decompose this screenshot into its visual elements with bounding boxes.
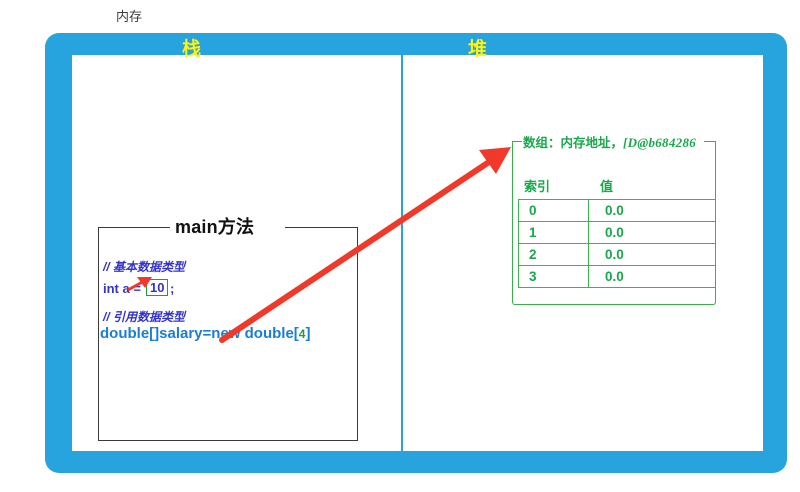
array-elements-table: 0 0.0 1 0.0 2 0.0 3 0.0 bbox=[518, 199, 716, 288]
array-cell-index: 2 bbox=[519, 244, 589, 266]
int-declaration: int a = bbox=[103, 281, 141, 296]
table-row: 1 0.0 bbox=[519, 222, 716, 244]
array-object-title: 数组：内存地址，[D@b684286 bbox=[523, 132, 696, 151]
array-title-prefix: 数组：内存地址， bbox=[523, 136, 623, 150]
zone-label-stack: 栈 bbox=[182, 34, 201, 61]
int-declaration-semicolon: ; bbox=[170, 281, 174, 296]
diagram-caption: 内存 bbox=[116, 6, 142, 25]
array-cell-value: 0.0 bbox=[589, 200, 716, 222]
array-cell-value: 0.0 bbox=[589, 266, 716, 288]
array-cell-index: 1 bbox=[519, 222, 589, 244]
array-cell-value: 0.0 bbox=[589, 222, 716, 244]
comment-primitive-type: // 基本数据类型 bbox=[103, 258, 185, 275]
array-cell-value: 0.0 bbox=[589, 244, 716, 266]
array-object-top-right-rule bbox=[704, 141, 716, 142]
array-cell-index: 3 bbox=[519, 266, 589, 288]
stack-heap-divider bbox=[401, 55, 403, 453]
array-declaration-prefix: double[]salary=new double[ bbox=[100, 325, 299, 342]
array-elements-body: 0 0.0 1 0.0 2 0.0 3 0.0 bbox=[519, 200, 716, 288]
main-method-box-top-right-rule bbox=[285, 227, 358, 228]
array-memory-address: [D@b684286 bbox=[623, 135, 696, 150]
array-cell-index: 0 bbox=[519, 200, 589, 222]
array-declaration-suffix: ] bbox=[305, 325, 310, 342]
array-header-value: 值 bbox=[600, 176, 613, 195]
array-declaration: double[]salary=new double[4] bbox=[100, 325, 310, 342]
table-row: 0 0.0 bbox=[519, 200, 716, 222]
memory-diagram-canvas: 内存 栈 堆 main方法 // 基本数据类型 int a = 10 ; // … bbox=[0, 0, 800, 492]
int-value-box: 10 bbox=[146, 279, 168, 296]
main-method-box-top-left-rule bbox=[98, 227, 170, 228]
zone-label-heap: 堆 bbox=[468, 34, 487, 61]
array-header-index: 索引 bbox=[524, 176, 550, 195]
table-row: 2 0.0 bbox=[519, 244, 716, 266]
comment-reference-type: // 引用数据类型 bbox=[103, 308, 185, 325]
array-object-top-left-rule bbox=[512, 141, 522, 142]
table-row: 3 0.0 bbox=[519, 266, 716, 288]
main-method-title: main方法 bbox=[175, 213, 254, 239]
